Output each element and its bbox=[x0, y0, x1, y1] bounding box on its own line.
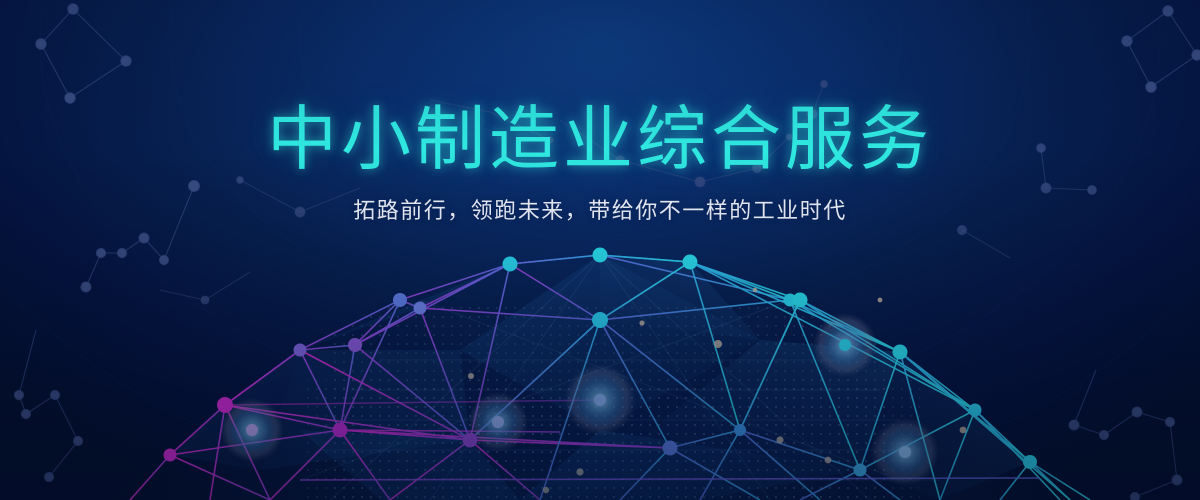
hero-banner: 中小制造业综合服务 拓路前行，领跑未来，带给你不一样的工业时代 bbox=[0, 0, 1200, 500]
page-subtitle: 拓路前行，领跑未来，带给你不一样的工业时代 bbox=[0, 196, 1200, 226]
dome-wireframe bbox=[0, 0, 1200, 500]
page-title: 中小制造业综合服务 bbox=[0, 100, 1200, 178]
